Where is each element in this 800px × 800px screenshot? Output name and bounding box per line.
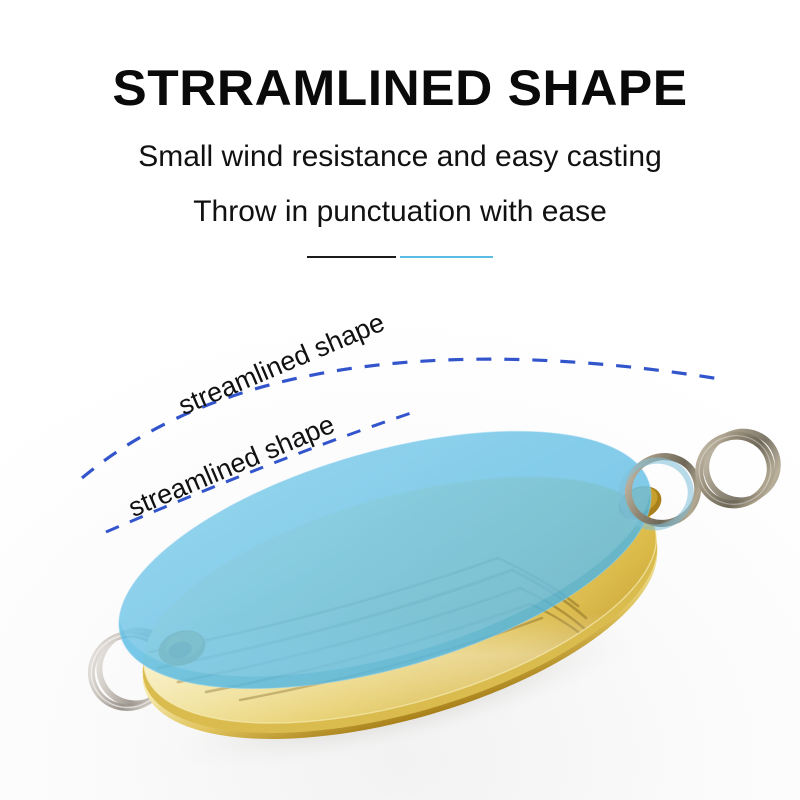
subtitle-line-1: Small wind resistance and easy casting [0,142,800,172]
product-scene: streamlined shape streamlined shape [0,300,800,800]
subtitle-line-2: Throw in punctuation with ease [0,197,800,227]
divider-accent-segment [400,256,493,258]
page-title: STRRAMLINED SHAPE [0,63,800,113]
product-feature-image: STRRAMLINED SHAPE Small wind resistance … [0,0,800,800]
product-illustration [0,300,800,800]
divider-dark-segment [307,256,396,258]
split-ring-far-right [690,422,788,515]
divider [307,255,493,258]
